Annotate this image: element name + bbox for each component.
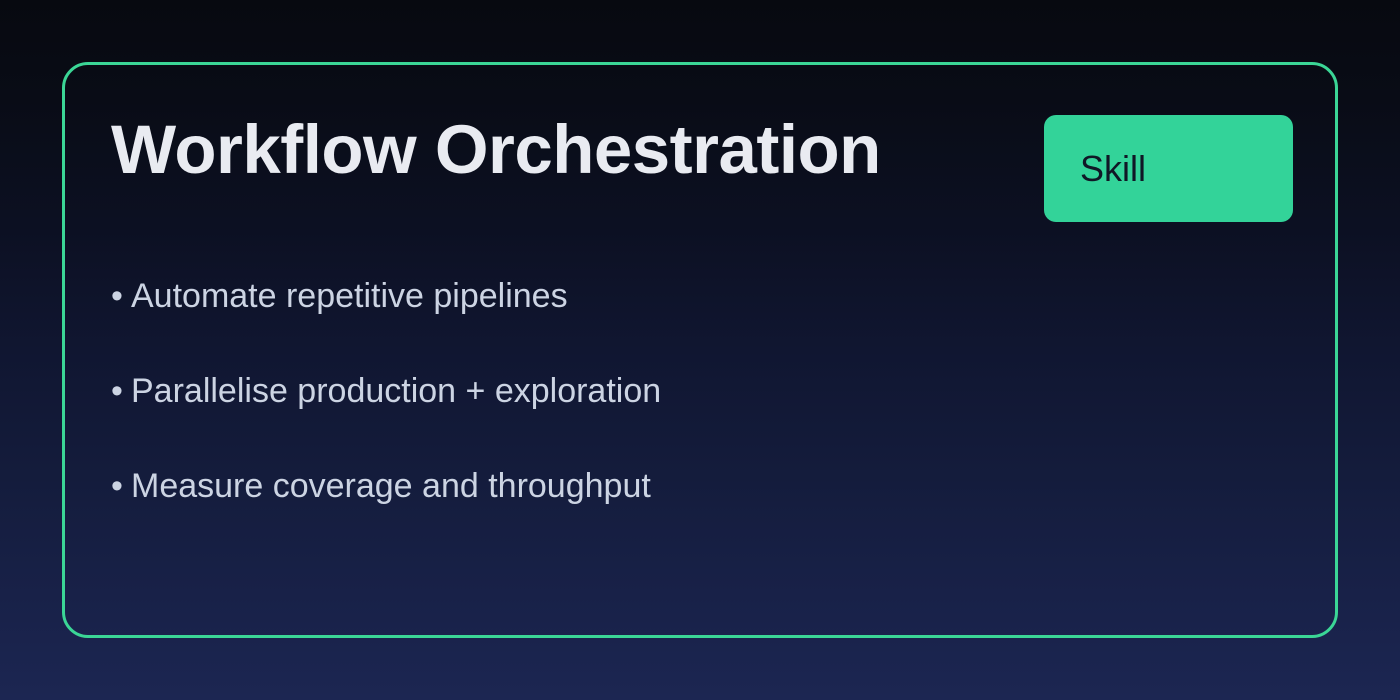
list-item-label: Measure coverage and throughput [131, 467, 651, 505]
bullet-dot-icon: • [111, 279, 131, 313]
bullet-dot-icon: • [111, 469, 131, 503]
list-item-label: Parallelise production + exploration [131, 372, 661, 410]
card-header: Workflow Orchestration Skill [65, 65, 1335, 235]
skill-card: Workflow Orchestration Skill •Automate r… [62, 62, 1338, 638]
slide-canvas: Workflow Orchestration Skill •Automate r… [0, 0, 1400, 700]
list-item-label: Automate repetitive pipelines [131, 277, 568, 315]
list-item: •Parallelise production + exploration [111, 374, 1295, 408]
bullet-list: •Automate repetitive pipelines •Parallel… [111, 279, 1295, 503]
page-title: Workflow Orchestration [111, 115, 881, 184]
list-item: •Measure coverage and throughput [111, 469, 1295, 503]
bullet-dot-icon: • [111, 374, 131, 408]
list-item: •Automate repetitive pipelines [111, 279, 1295, 313]
status-badge[interactable]: Skill [1044, 115, 1293, 222]
status-badge-label: Skill [1080, 151, 1146, 187]
